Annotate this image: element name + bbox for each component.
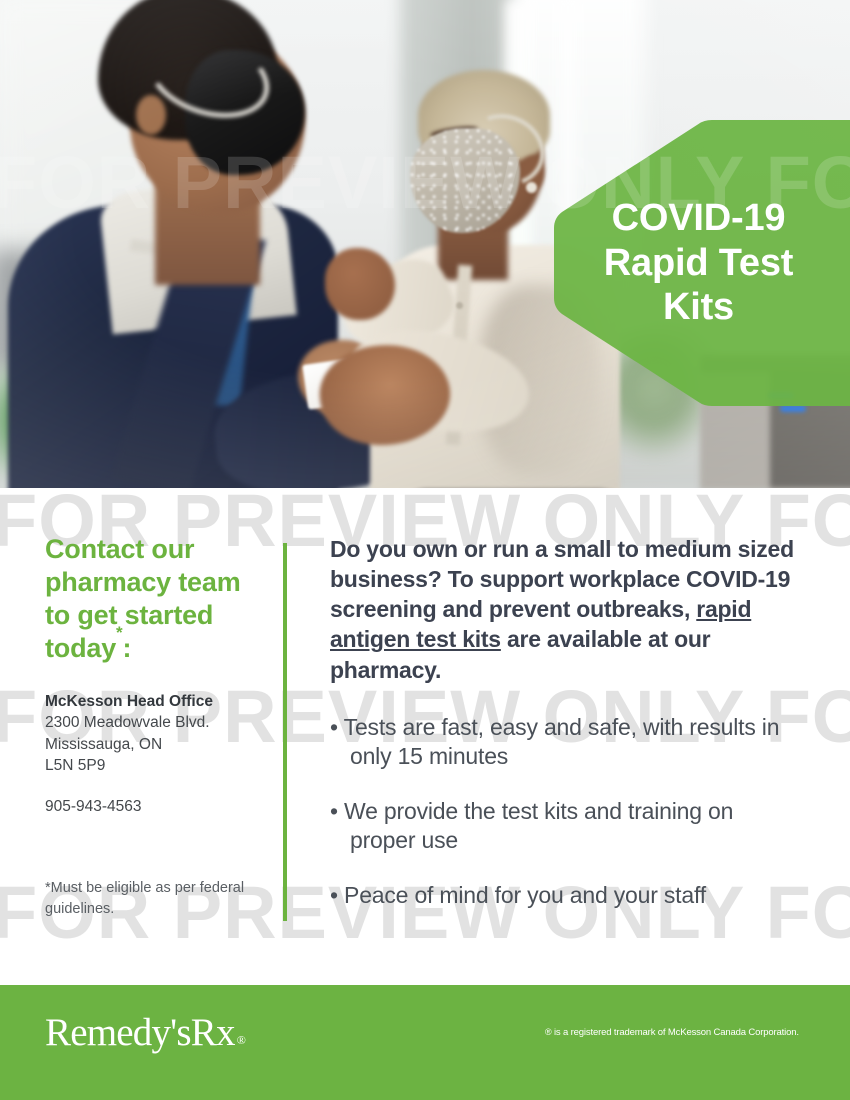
list-item: Tests are fast, easy and safe, with resu… bbox=[330, 713, 800, 771]
woman-fist bbox=[325, 248, 395, 320]
person-woman bbox=[360, 70, 690, 488]
office-name: McKesson Head Office bbox=[45, 691, 270, 712]
address-line-3: L5N 5P9 bbox=[45, 755, 270, 776]
eligibility-disclaimer: *Must be eligible as per federal guideli… bbox=[45, 878, 260, 919]
woman-blouse-button-1 bbox=[456, 302, 463, 309]
logo-wordmark: Remedy'sRx bbox=[45, 1011, 235, 1054]
benefits-list: Tests are fast, easy and safe, with resu… bbox=[330, 713, 800, 911]
asterisk-marker: * bbox=[116, 623, 122, 642]
led-light-1 bbox=[768, 392, 794, 399]
info-column: Do you own or run a small to medium size… bbox=[330, 534, 800, 937]
led-light-2 bbox=[780, 405, 806, 412]
list-item: Peace of mind for you and your staff bbox=[330, 881, 800, 910]
counter-side bbox=[770, 368, 850, 488]
photo-scene bbox=[0, 0, 850, 488]
content-area: Contact our pharmacy team to get started… bbox=[0, 488, 850, 980]
trademark-note-text: is a registered trademark of McKesson Ca… bbox=[551, 1027, 798, 1038]
remedysrx-logo: Remedy'sRx® bbox=[45, 1013, 245, 1052]
phone-number[interactable]: 905-943-4563 bbox=[45, 796, 270, 817]
footer-bar: Remedy'sRx® ® is a registered trademark … bbox=[0, 985, 850, 1100]
contact-heading: Contact our pharmacy team to get started… bbox=[45, 533, 270, 665]
man-ear bbox=[136, 95, 166, 135]
poster-page: FOR PREVIEW ONLY FOR PREVIEW ONLY COVID-… bbox=[0, 0, 850, 1100]
woman-earring bbox=[526, 182, 537, 193]
heading-colon: : bbox=[122, 633, 131, 663]
column-divider bbox=[283, 543, 287, 921]
contact-heading-text: Contact our pharmacy team to get started… bbox=[45, 534, 241, 663]
address-line-2: Mississauga, ON bbox=[45, 734, 270, 755]
address-line-1: 2300 Meadowvale Blvd. bbox=[45, 712, 270, 733]
hero-photo: FOR PREVIEW ONLY FOR PREVIEW ONLY COVID-… bbox=[0, 0, 850, 488]
list-item: We provide the test kits and training on… bbox=[330, 797, 800, 855]
address-block: McKesson Head Office 2300 Meadowvale Blv… bbox=[45, 691, 270, 818]
intro-paragraph: Do you own or run a small to medium size… bbox=[330, 534, 800, 685]
trademark-note: ® is a registered trademark of McKesson … bbox=[545, 1027, 799, 1038]
registered-trademark-icon: ® bbox=[237, 1033, 245, 1047]
contact-column: Contact our pharmacy team to get started… bbox=[45, 533, 270, 818]
